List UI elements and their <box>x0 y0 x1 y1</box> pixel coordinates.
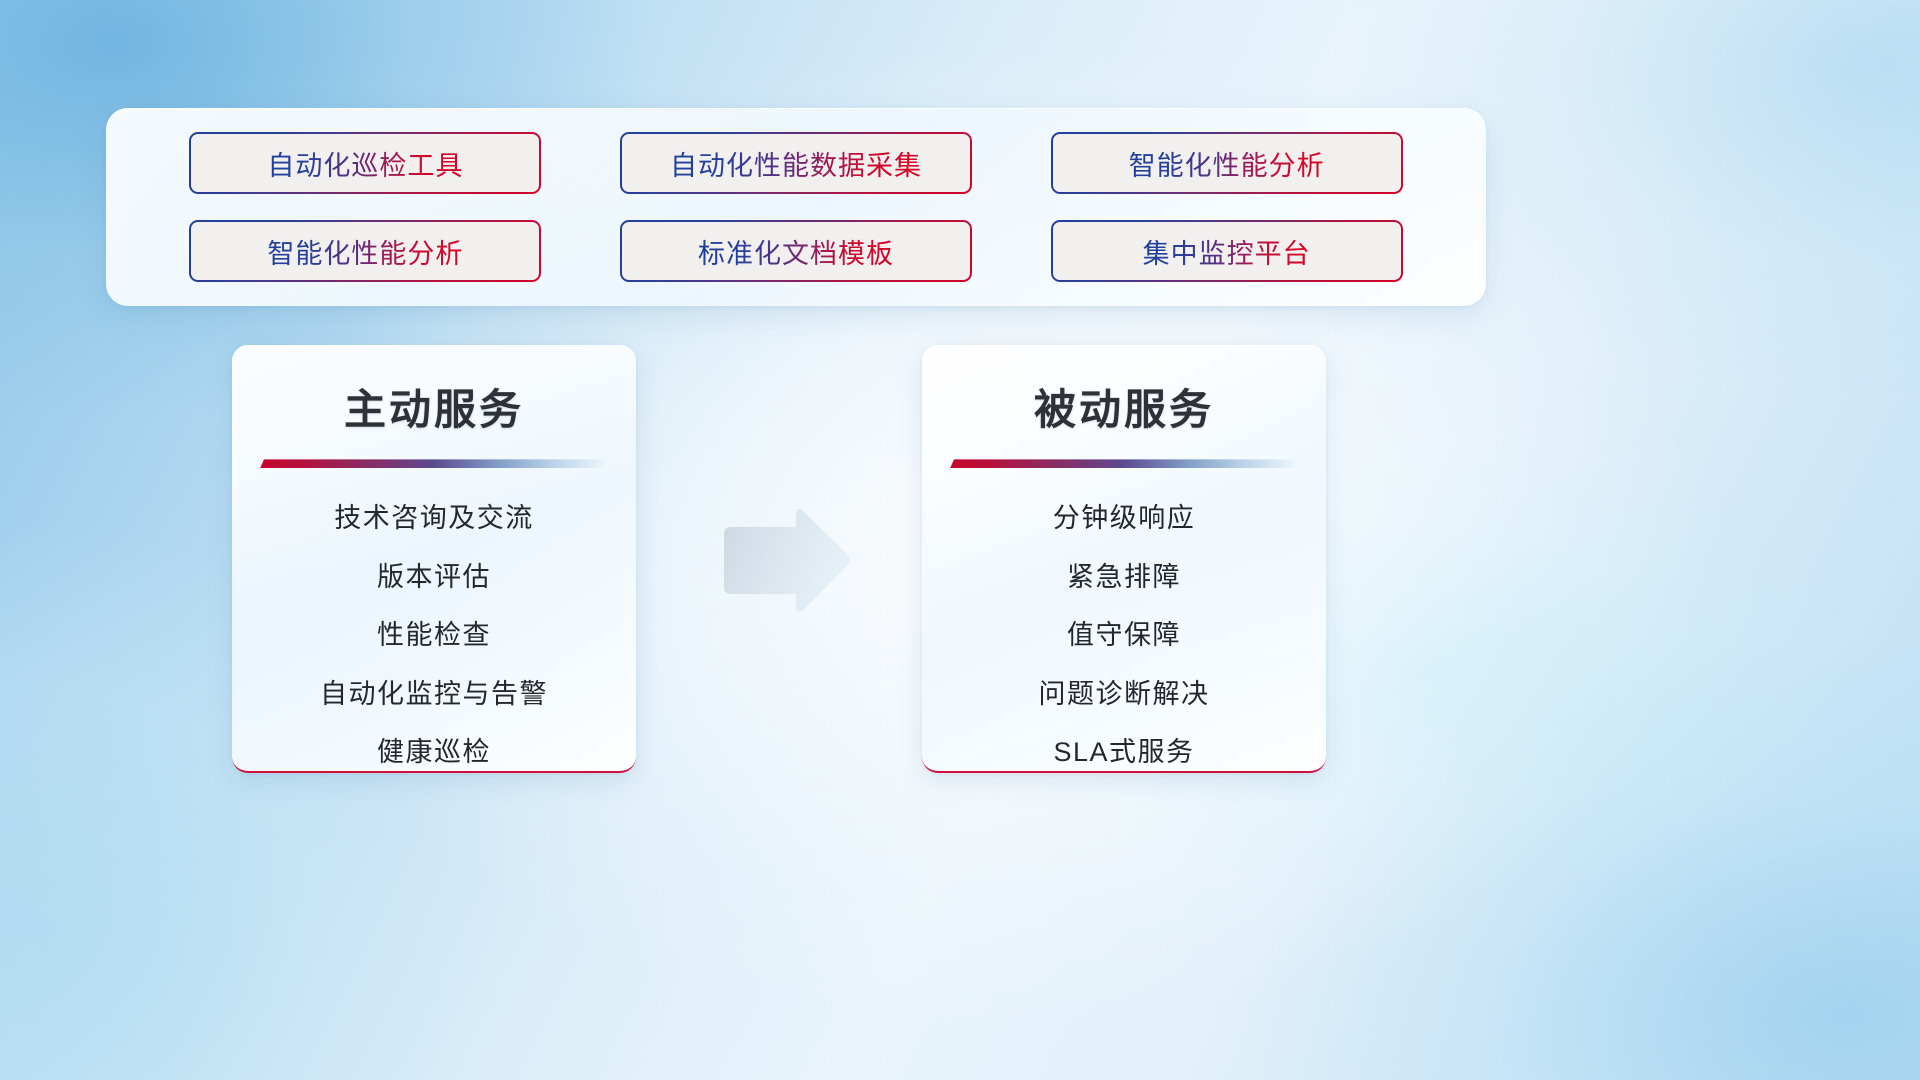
service-item: SLA式服务 <box>1053 732 1194 773</box>
service-item: 版本评估 <box>377 557 491 598</box>
capability-pill-label: 自动化巡检工具 <box>267 144 463 183</box>
service-item: 分钟级响应 <box>1053 498 1196 539</box>
card-title-underline <box>950 459 1298 468</box>
capability-pill-label: 集中监控平台 <box>1143 232 1311 271</box>
service-item: 值守保障 <box>1067 615 1181 656</box>
capabilities-panel: 自动化巡检工具 自动化性能数据采集 智能化性能分析 智能化性能分析 标准化文档模… <box>106 108 1486 306</box>
service-item: 紧急排障 <box>1067 557 1181 598</box>
service-item: 自动化监控与告警 <box>320 674 548 715</box>
capability-pill-intelligent-performance-analysis-bottom[interactable]: 智能化性能分析 <box>189 220 541 282</box>
capability-pill-label: 标准化文档模板 <box>698 232 894 271</box>
card-title-active: 主动服务 <box>232 385 636 435</box>
slide-canvas: 自动化巡检工具 自动化性能数据采集 智能化性能分析 智能化性能分析 标准化文档模… <box>0 0 1920 1080</box>
service-item-list-passive: 分钟级响应 紧急排障 值守保障 问题诊断解决 SLA式服务 <box>922 498 1326 773</box>
service-item: 健康巡检 <box>377 732 491 773</box>
capability-pill-centralized-monitoring-platform[interactable]: 集中监控平台 <box>1051 220 1403 282</box>
capability-pill-label: 智能化性能分析 <box>1129 144 1325 183</box>
service-item: 问题诊断解决 <box>1039 674 1210 715</box>
service-item: 技术咨询及交流 <box>334 498 534 539</box>
service-card-passive: 被动服务 分钟级响应 紧急排障 值守保障 问题诊断解决 SLA式服务 <box>922 345 1326 773</box>
capability-pill-label: 智能化性能分析 <box>267 232 463 271</box>
service-item: 性能检查 <box>377 615 491 656</box>
capability-pill-intelligent-performance-analysis-top[interactable]: 智能化性能分析 <box>1051 132 1403 194</box>
capability-pill-automated-inspection-tool[interactable]: 自动化巡检工具 <box>189 132 541 194</box>
capability-pill-automated-performance-data-collection[interactable]: 自动化性能数据采集 <box>620 132 972 194</box>
card-title-underline <box>260 459 608 468</box>
card-title-passive: 被动服务 <box>922 385 1326 435</box>
service-card-active: 主动服务 技术咨询及交流 版本评估 性能检查 自动化监控与告警 健康巡检 <box>232 345 636 773</box>
arrow-right-icon <box>712 502 854 620</box>
service-item-list-active: 技术咨询及交流 版本评估 性能检查 自动化监控与告警 健康巡检 <box>232 498 636 773</box>
capability-pill-label: 自动化性能数据采集 <box>670 144 922 183</box>
capability-pill-standardized-document-template[interactable]: 标准化文档模板 <box>620 220 972 282</box>
